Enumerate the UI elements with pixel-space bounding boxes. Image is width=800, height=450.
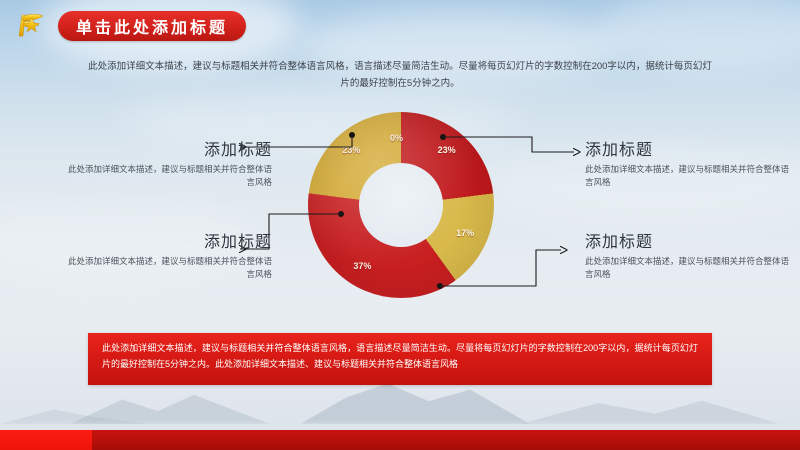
callout-body-4: 此处添加详细文本描述，建议与标题相关并符合整体语言风格 [585, 255, 795, 281]
note-box: 此处添加详细文本描述，建议与标题相关并符合整体语言风格，语言描述尽量简洁生动。尽… [88, 333, 712, 385]
slide-title-text: 单击此处添加标题 [76, 14, 228, 38]
callout-block-1: 添加标题 此处添加详细文本描述，建议与标题相关并符合整体语言风格 [62, 136, 272, 189]
doughnut-hole [359, 163, 443, 247]
mountain-silhouette [300, 380, 530, 424]
footer-bar [0, 430, 800, 450]
slice-label-1: 23% [438, 145, 456, 155]
mountain-silhouette [0, 402, 150, 424]
slide-title-pill: 单击此处添加标题 [58, 11, 246, 41]
callout-body-2: 此处添加详细文本描述，建议与标题相关并符合整体语言风格 [585, 163, 795, 189]
note-box-text: 此处添加详细文本描述，建议与标题相关并符合整体语言风格，语言描述尽量简洁生动。尽… [102, 340, 698, 372]
party-emblem-icon [12, 9, 52, 43]
callout-block-4: 添加标题 此处添加详细文本描述，建议与标题相关并符合整体语言风格 [585, 228, 795, 281]
slice-label-4: 23% [342, 145, 360, 155]
intro-paragraph: 此处添加详细文本描述，建议与标题相关并符合整体语言风格，语言描述尽量简洁生动。尽… [88, 58, 712, 92]
slice-label-3: 37% [353, 261, 371, 271]
doughnut-chart: 0% 23% 17% 37% 23% [300, 112, 500, 298]
callout-heading-3: 添加标题 [62, 228, 272, 252]
slide-canvas: 单击此处添加标题 此处添加详细文本描述，建议与标题相关并符合整体语言风格，语言描… [0, 0, 800, 450]
title-group: 单击此处添加标题 [12, 8, 246, 44]
footer-accent-block [0, 430, 92, 450]
callout-block-2: 添加标题 此处添加详细文本描述，建议与标题相关并符合整体语言风格 [585, 136, 795, 189]
mountain-silhouette [70, 390, 270, 424]
callout-heading-2: 添加标题 [585, 136, 795, 160]
mountain-silhouette [520, 394, 780, 424]
callout-block-3: 添加标题 此处添加详细文本描述，建议与标题相关并符合整体语言风格 [62, 228, 272, 281]
callout-body-3: 此处添加详细文本描述，建议与标题相关并符合整体语言风格 [62, 255, 272, 281]
slice-label-2: 17% [456, 228, 474, 238]
callout-heading-1: 添加标题 [62, 136, 272, 160]
callout-heading-4: 添加标题 [585, 228, 795, 252]
callout-body-1: 此处添加详细文本描述，建议与标题相关并符合整体语言风格 [62, 163, 272, 189]
slice-label-0: 0% [390, 133, 403, 143]
